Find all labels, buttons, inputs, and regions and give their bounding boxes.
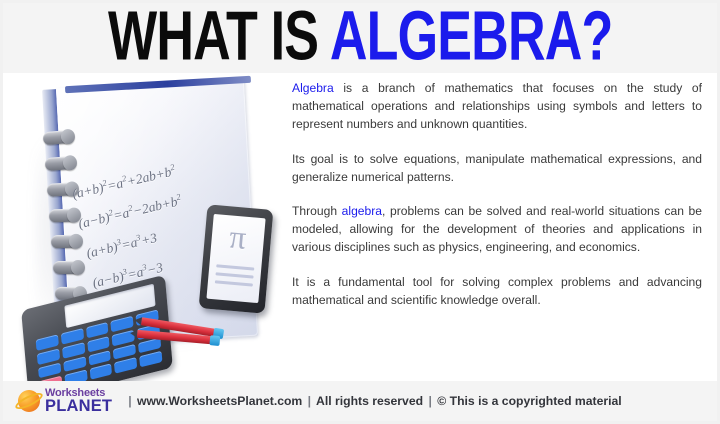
footer-separator: | <box>306 394 313 408</box>
paragraph-1: Algebra is a branch of mathematics that … <box>292 79 702 134</box>
footer-credits: | www.WorksheetsPlanet.com | All rights … <box>126 394 621 408</box>
screen-text-line <box>215 280 253 286</box>
calculator-key <box>87 336 110 352</box>
screen-text-line <box>216 272 254 278</box>
paragraph-4-text: It is a fundamental tool for solving com… <box>292 275 702 307</box>
formula-row: (a+b)3=a3+3 <box>85 229 159 262</box>
paragraph-2: Its goal is to solve equations, manipula… <box>292 150 702 186</box>
tablet-device: π <box>199 204 274 313</box>
page-title-black: WHAT IS <box>108 0 330 75</box>
calculator-key <box>139 351 162 367</box>
screen-text-line <box>216 264 254 270</box>
paragraph-3: Through algebra, problems can be solved … <box>292 202 702 257</box>
algebra-study-illustration: (a+b)2=a2+2ab+b2 (a−b)2=a2−2ab+b2 (a+b)3… <box>17 75 289 375</box>
footer-website[interactable]: www.WorksheetsPlanet.com <box>137 394 302 408</box>
paragraph-4: It is a fundamental tool for solving com… <box>292 273 702 309</box>
logo-wordmark: Worksheets PLANET <box>45 388 112 415</box>
logo-line-2: PLANET <box>45 398 112 415</box>
pencil-cap <box>209 335 220 346</box>
pencil-tip <box>134 316 142 325</box>
page-title: WHAT IS ALGEBRA? <box>108 2 612 71</box>
calculator-key <box>37 348 60 364</box>
footer-copyright: © This is a copyrighted material <box>437 394 621 408</box>
spiral-ring-icon <box>42 130 73 146</box>
footer-separator: | <box>426 394 433 408</box>
planet-icon <box>16 388 42 414</box>
footer-separator: | <box>126 394 133 408</box>
highlight-algebra: algebra <box>342 204 382 218</box>
pi-icon: π <box>210 220 265 257</box>
worksheets-planet-logo[interactable]: Worksheets PLANET <box>16 388 112 415</box>
calculator-key <box>62 342 85 358</box>
paragraph-1-text: is a branch of mathematics that focuses … <box>292 81 702 131</box>
tablet-screen: π <box>206 214 265 303</box>
calculator-key <box>89 363 112 379</box>
footer-band: Worksheets PLANET | www.WorksheetsPlanet… <box>3 381 717 421</box>
page-title-blue: ALGEBRA? <box>330 0 613 75</box>
paragraph-2-text: Its goal is to solve equations, manipula… <box>292 152 702 184</box>
body-text: Algebra is a branch of mathematics that … <box>292 79 702 375</box>
pencil-tip <box>130 329 138 338</box>
highlight-algebra: Algebra <box>292 81 334 95</box>
calculator-key <box>114 357 137 373</box>
footer-rights: All rights reserved <box>316 394 423 408</box>
infographic-card: WHAT IS ALGEBRA? (a+b)2=a2+2ab+b2 (a−b)2… <box>0 0 720 424</box>
header-band: WHAT IS ALGEBRA? <box>3 3 717 73</box>
paragraph-3-pre: Through <box>292 204 342 218</box>
